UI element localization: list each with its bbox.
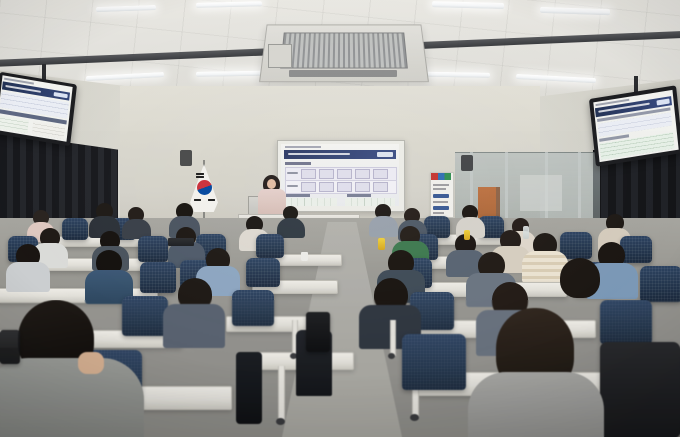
presenter-standing [258, 189, 286, 215]
office-chair-black [600, 342, 680, 437]
ceiling-monitor-right [593, 90, 678, 162]
poster-block [433, 194, 449, 198]
slide-title-bar [284, 150, 396, 159]
seminar-room-photo [0, 0, 680, 437]
desk-caster [276, 418, 285, 425]
flag-trigram [208, 199, 215, 201]
poster-block [433, 206, 449, 210]
chair-mesh [122, 296, 168, 336]
attendee-head [560, 258, 600, 298]
flag-trigram [196, 173, 204, 175]
poster-header [431, 173, 451, 180]
beverage-can [378, 238, 385, 250]
paper-cup [301, 252, 308, 261]
attendee-torso [6, 262, 50, 292]
laptop [168, 238, 194, 246]
floor-bag [306, 312, 330, 352]
ac-grille [280, 33, 408, 69]
chair-mesh [620, 236, 652, 263]
chair-mesh [600, 300, 652, 344]
desk-leg [390, 320, 396, 356]
chair-mesh [138, 236, 168, 262]
attendee-torso [369, 216, 398, 237]
taeguk-symbol [197, 180, 212, 195]
presenter-face [267, 179, 276, 189]
water-bottle [523, 226, 529, 239]
poster-text-line [433, 201, 448, 203]
chair-mesh [140, 262, 176, 293]
flag-trigram [194, 199, 201, 201]
attendee-trousers [236, 352, 262, 424]
desk-caster [388, 353, 395, 359]
poster-text-line [433, 184, 449, 186]
desk-leg [278, 366, 285, 420]
attendee-hand [78, 352, 104, 374]
poster-text-line [433, 212, 444, 214]
wall-speaker-left [180, 150, 192, 166]
attendee-foreground-right-torso [468, 372, 604, 437]
ac-vent-slot [289, 70, 397, 77]
ac-control-box [268, 44, 292, 68]
poster-text-line [433, 188, 446, 190]
chair-mesh [246, 258, 280, 287]
attendee-torso [163, 304, 225, 348]
glass-inner-panel [520, 175, 562, 211]
beverage-can [464, 230, 470, 240]
projection-screen-slide [281, 144, 399, 206]
chair-mesh [256, 234, 284, 258]
flag-trigram [196, 176, 204, 178]
slide-data-table [285, 198, 337, 206]
ceiling-monitor-left [0, 75, 73, 141]
floor-bag [0, 330, 20, 364]
chair-mesh [232, 290, 274, 326]
chair-mesh [402, 334, 466, 390]
wall-speaker-right [461, 155, 473, 171]
chair-mesh [640, 266, 680, 302]
attendee-foreground-left-torso [0, 358, 144, 437]
desk-caster [410, 414, 419, 421]
chair-mesh [62, 218, 88, 240]
